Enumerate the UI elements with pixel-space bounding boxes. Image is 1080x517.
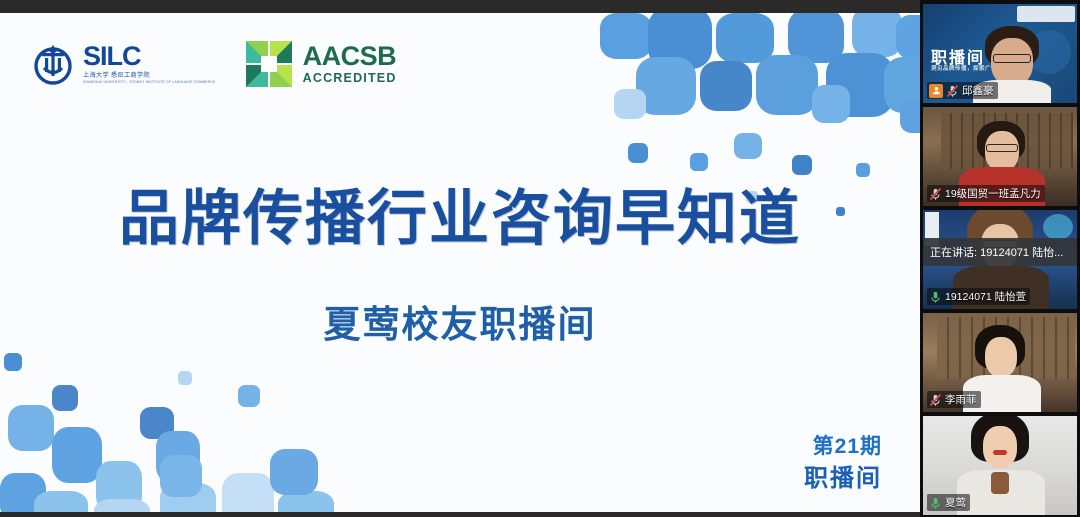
room-decor [1043,214,1073,240]
participant-name: 19级国贸一班孟凡力 [945,186,1041,201]
slide-corner-branding: 第21期 职播间 [804,432,882,494]
mic-muted-icon [946,84,959,98]
aacsb-pinwheel-icon [244,39,294,89]
participant-name-bar: 邱鑫豪 [927,82,998,99]
silc-emblem-icon [30,41,76,87]
silc-wordmark: SILC [83,43,216,70]
program-name: 职播间 [804,463,882,494]
slide-title: 品牌传播行业咨询早知道 [0,189,920,249]
participant-tile[interactable]: 职播间 洞见品牌传播，探索广告未来 邱鑫豪 [923,4,1077,103]
participant-tile[interactable]: 夏莺 [923,416,1077,515]
aacsb-logo: AACSB ACCREDITED [244,39,397,89]
participant-name-bar: 夏莺 [927,494,970,511]
shared-screen-slide[interactable]: SILC 上海大学 悉尼工商学院 SHANGHAI UNIVERSITY - S… [0,13,920,512]
participant-name-bar: 19124071 陆怡萱 [927,288,1030,305]
participant-tile[interactable]: 19级国贸一班孟凡力 [923,107,1077,206]
participant-video-rail[interactable]: 职播间 洞见品牌传播，探索广告未来 邱鑫豪 [920,0,1080,517]
person-face [985,337,1017,377]
aacsb-accredited-label: ACCREDITED [303,71,397,86]
mic-muted-icon [929,187,942,201]
mic-muted-icon [929,393,942,407]
participant-name: 李雨菲 [945,392,977,407]
person-face [983,426,1017,468]
mic-unmuted-icon [929,290,942,304]
glasses-icon [993,54,1031,63]
virtual-bg-logo [1017,6,1075,22]
participant-tile[interactable]: 李雨菲 [923,313,1077,412]
silc-logo: SILC 上海大学 悉尼工商学院 SHANGHAI UNIVERSITY - S… [30,41,216,87]
aacsb-wordmark: AACSB [303,43,397,70]
slide-subtitle: 夏莺校友职播间 [0,306,920,343]
logo-row: SILC 上海大学 悉尼工商学院 SHANGHAI UNIVERSITY - S… [30,39,397,89]
glasses-icon [986,144,1018,152]
participant-tile-active-speaker[interactable]: 正在讲话: 19124071 陆怡... 19124071 陆怡萱 [923,210,1077,309]
window-top-bar [0,0,920,13]
person-lips [993,450,1007,455]
silc-chinese-name: 上海大学 悉尼工商学院 [83,72,216,80]
participant-name: 19124071 陆怡萱 [945,289,1026,304]
issue-number: 第21期 [804,432,882,462]
participant-name: 邱鑫豪 [962,83,994,98]
meeting-screen: SILC 上海大学 悉尼工商学院 SHANGHAI UNIVERSITY - S… [0,0,1080,517]
active-speaker-toast: 正在讲话: 19124071 陆怡... [923,238,1077,266]
mic-unmuted-icon [929,496,942,510]
participant-name: 夏莺 [945,495,966,510]
host-icon [929,84,943,98]
participant-name-bar: 19级国贸一班孟凡力 [927,185,1045,202]
participant-name-bar: 李雨菲 [927,391,981,408]
window-bottom-bar [0,512,920,517]
silc-english-name: SHANGHAI UNIVERSITY - SYDNEY INSTITUTE O… [83,80,216,84]
person-accessory [991,472,1009,494]
